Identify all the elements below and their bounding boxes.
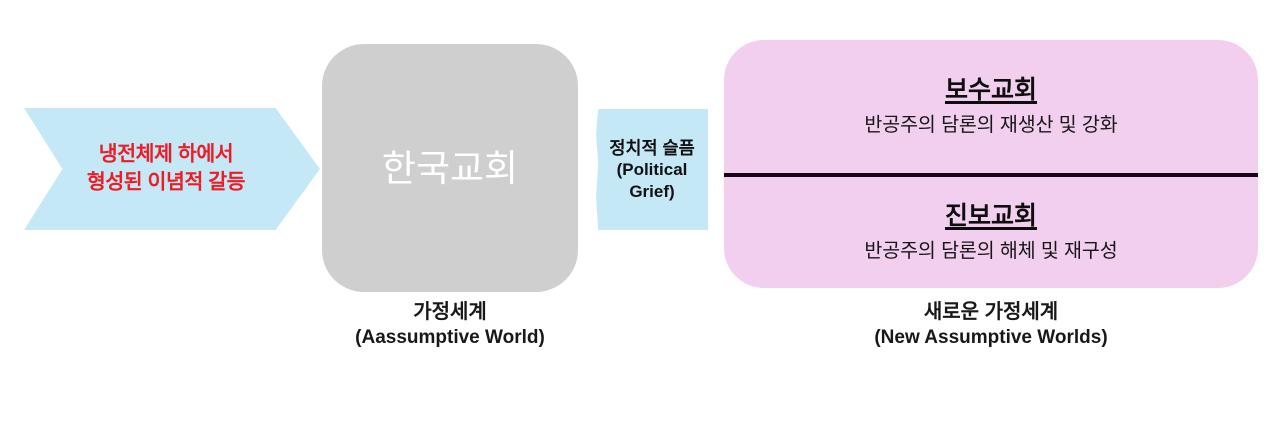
conservative-church-title: 보수교회 <box>945 75 1037 105</box>
assumptive-world-caption: 가정세계 (Aassumptive World) <box>322 300 578 350</box>
political-grief-label-ko: 정치적 슬픔 <box>609 137 694 159</box>
ideological-conflict-banner: 냉전체제 하에서 형성된 이념적 갈등 <box>24 108 320 230</box>
political-grief-label-group: 정치적 슬픔 (Political Grief) <box>596 109 708 230</box>
assumptive-world-caption-ko: 가정세계 <box>322 300 578 326</box>
banner-label: 냉전체제 하에서 형성된 이념적 갈등 <box>54 141 278 198</box>
conservative-church-branch: 보수교회 반공주의 담론의 재생산 및 강화 <box>724 40 1258 173</box>
branch-divider <box>724 173 1258 177</box>
political-grief-label-en-line1: (Political <box>617 159 688 181</box>
progressive-church-branch: 진보교회 반공주의 담론의 해체 및 재구성 <box>724 176 1258 288</box>
new-assumptive-worlds-caption-en: (New Assumptive Worlds) <box>724 326 1258 350</box>
new-assumptive-worlds-caption: 새로운 가정세계 (New Assumptive Worlds) <box>724 300 1258 350</box>
progressive-church-title: 진보교회 <box>945 201 1037 231</box>
assumptive-world-caption-en: (Aassumptive World) <box>322 326 578 350</box>
political-grief-connector: 정치적 슬픔 (Political Grief) <box>596 109 708 230</box>
political-grief-label-en-line2: Grief) <box>629 181 674 203</box>
korean-church-label: 한국교회 <box>382 150 518 187</box>
new-assumptive-worlds-node: 보수교회 반공주의 담론의 재생산 및 강화 진보교회 반공주의 담론의 해체 … <box>724 40 1258 288</box>
new-assumptive-worlds-caption-ko: 새로운 가정세계 <box>724 300 1258 326</box>
korean-church-node: 한국교회 <box>322 44 578 292</box>
diagram-canvas: 냉전체제 하에서 형성된 이념적 갈등 한국교회 가정세계 (Aassumpti… <box>0 0 1280 424</box>
conservative-church-subtitle: 반공주의 담론의 재생산 및 강화 <box>864 114 1117 137</box>
progressive-church-subtitle: 반공주의 담론의 해체 및 재구성 <box>864 240 1117 263</box>
